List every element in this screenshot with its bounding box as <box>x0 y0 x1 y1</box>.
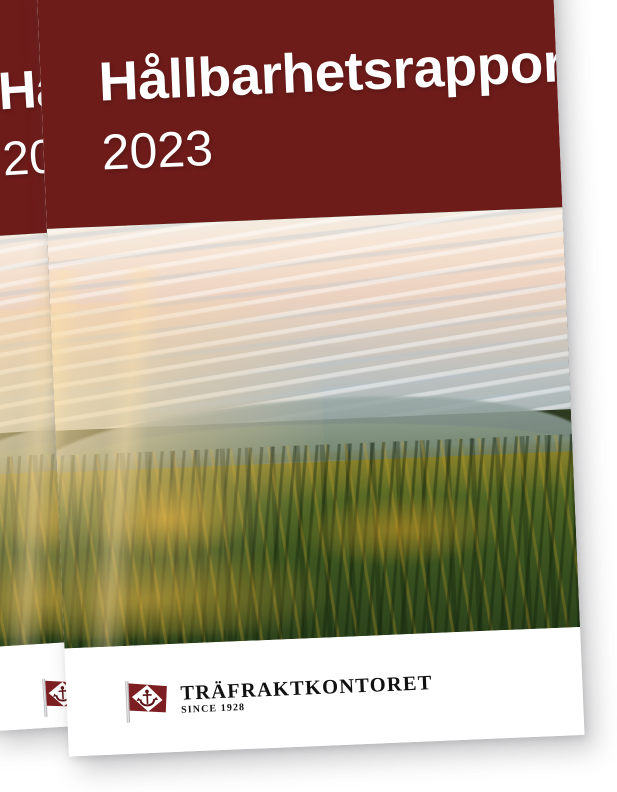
cover-title: Hållbarhetsrapport <box>98 35 558 109</box>
brand-logo-text: TRÄFRAKTKONTORET SINCE 1928 <box>180 673 433 715</box>
brand-logo[interactable]: TRÄFRAKTKONTORET SINCE 1928 <box>122 667 434 724</box>
cover-photo <box>47 207 580 648</box>
flag-with-anchor-icon <box>122 678 172 724</box>
cover-header-band: Hållbarhetsrapport 2023 <box>35 0 562 229</box>
cover-year: 2023 <box>101 108 561 177</box>
report-covers-stage: Hållbarhetsrapport 2023 <box>0 0 617 792</box>
report-cover-front[interactable]: Hållbarhetsrapport 2023 <box>35 0 584 756</box>
cloud-streaks <box>47 207 580 431</box>
autumn-patch-3 <box>60 536 347 640</box>
cover-footer: TRÄFRAKTKONTORET SINCE 1928 <box>64 627 584 757</box>
